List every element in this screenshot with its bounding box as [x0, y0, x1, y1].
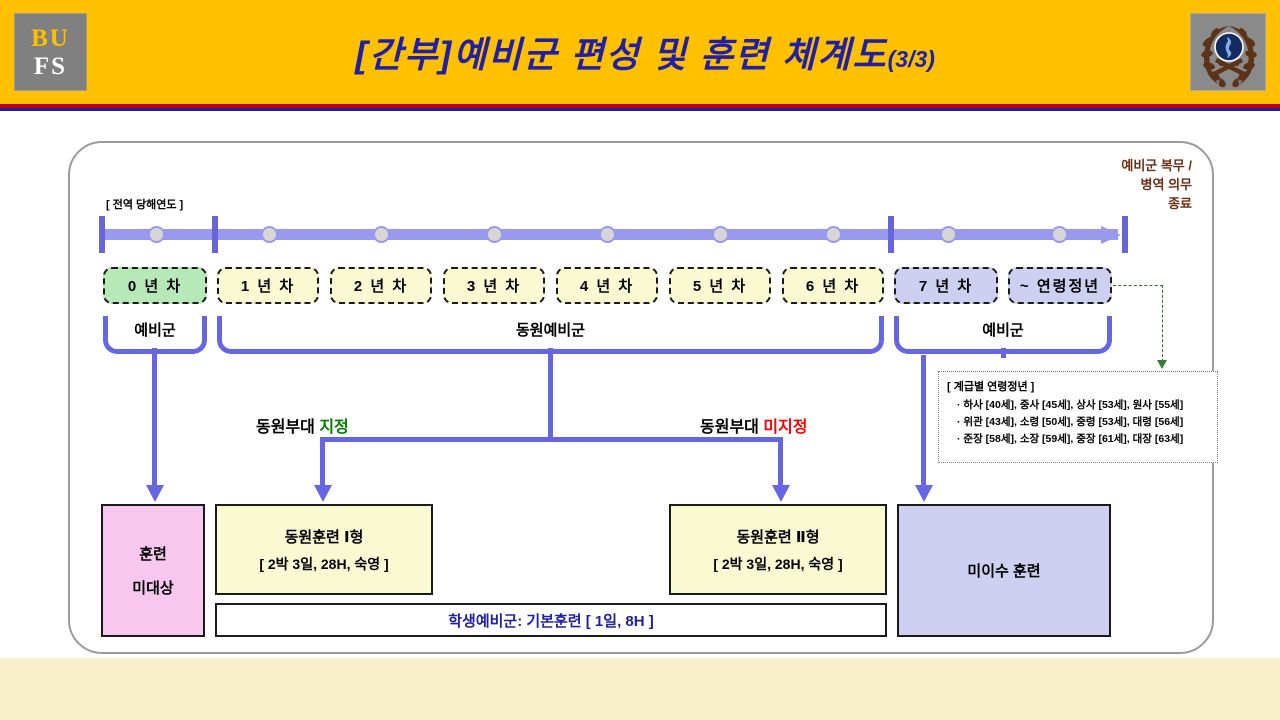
brace-nub-right [1001, 348, 1006, 358]
connector-mid-stem [548, 355, 553, 442]
legend-connector-vertical [1162, 285, 1163, 362]
timeline-arrowhead [1101, 226, 1121, 244]
page-title: [간부]예비군 편성 및 훈련 체계도(3/3) [120, 26, 1170, 84]
connector-mid-right-arrow [772, 485, 790, 502]
branch-label-assigned: 동원부대 지정 [256, 413, 349, 437]
year-box-5[interactable]: 5 년 차 [669, 267, 771, 304]
timeline-end-label-line2: 병역 의무 [1032, 175, 1192, 194]
legend-connector-arrow [1157, 360, 1167, 369]
brace-label-mobilization-reserve: 동원예비군 [217, 319, 884, 340]
result-type2-title: 동원훈련 Ⅱ형 [736, 526, 819, 547]
bufs-logo: BU FS [14, 13, 87, 91]
connector-mid-right-drop [778, 437, 783, 487]
branch-label-unassigned: 동원부대 미지정 [700, 413, 808, 437]
timeline-dot [825, 226, 842, 243]
timeline-start-label: [ 전역 당해연도 ] [106, 196, 183, 212]
connector-right-stem [921, 355, 926, 487]
slide-footer: "대한민족을 지키는 또하나의힘, 예비군" BU FS 부산외국어대학교 예비… [0, 658, 1280, 720]
result-box-mobilization-type2[interactable]: 동원훈련 Ⅱ형 [ 2박 3일, 28H, 숙영 ] [669, 504, 887, 595]
timeline-end-label-line3: 종료 [1032, 194, 1192, 213]
age-limit-legend-line-1: · 하사 [40세], 중사 [45세], 상사 [53세], 원사 [55세] [947, 397, 1211, 414]
timeline-tick-year7 [888, 216, 894, 253]
year-box-0[interactable]: 0 년 차 [103, 267, 207, 304]
age-limit-legend-line-3: · 준장 [58세], 소장 [59세], 중장 [61세], 대장 [63세] [947, 431, 1211, 448]
result-type2-sub: [ 2박 3일, 28H, 숙영 ] [713, 554, 842, 574]
year-box-1[interactable]: 1 년 차 [217, 267, 319, 304]
connector-left-stem [152, 355, 157, 487]
legend-connector-horizontal [1113, 285, 1163, 286]
timeline-dot [486, 226, 503, 243]
result-no-training-line2: 미대상 [132, 577, 173, 598]
connector-mid-left-drop [320, 437, 325, 487]
emblem-graphic [1191, 14, 1266, 91]
brace-label-reserve-year7plus: 예비군 [894, 319, 1112, 340]
page-title-suffix: (3/3) [888, 46, 935, 72]
page-title-main: [간부]예비군 편성 및 훈련 체계도 [355, 34, 888, 75]
timeline-dot [599, 226, 616, 243]
connector-mid-left-arrow [314, 485, 332, 502]
timeline-dot [148, 226, 165, 243]
result-no-training-line1: 훈련 [139, 543, 167, 564]
timeline-tick-end [1122, 216, 1128, 253]
year-box-4[interactable]: 4 년 차 [556, 267, 658, 304]
result-box-uncompleted-training[interactable]: 미이수 훈련 [897, 504, 1111, 637]
bufs-logo-line1: BU [31, 26, 70, 51]
timeline-dot [712, 226, 729, 243]
timeline-end-label: 예비군 복무 / 병역 의무 종료 [1032, 156, 1192, 213]
timeline-dot [940, 226, 957, 243]
timeline-tick-year1 [212, 216, 218, 253]
slide-root: BU FS [간부]예비군 편성 및 훈련 체계도(3/3) [0, 0, 1280, 720]
connector-mid-crossbar [320, 437, 783, 442]
result-box-no-training[interactable]: 훈련 미대상 [101, 504, 205, 637]
brace-label-reserve-year0: 예비군 [103, 319, 207, 340]
year-box-7[interactable]: 7 년 차 [894, 267, 998, 304]
year-box-2[interactable]: 2 년 차 [330, 267, 432, 304]
bufs-logo-line2: FS [34, 54, 67, 79]
age-limit-legend-line-2: · 위관 [43세], 소령 [50세], 중령 [53세], 대령 [56세] [947, 414, 1211, 431]
age-limit-legend-title: [ 계급별 연령정년 ] [947, 378, 1211, 394]
connector-left-arrow [146, 485, 164, 502]
result-uncompleted-title: 미이수 훈련 [967, 560, 1040, 581]
branch-label-assigned-prefix: 동원부대 [256, 419, 319, 436]
age-limit-legend: [ 계급별 연령정년 ] · 하사 [40세], 중사 [45세], 상사 [5… [938, 371, 1218, 463]
year-box-3[interactable]: 3 년 차 [443, 267, 545, 304]
header-divider-blue [0, 108, 1280, 111]
branch-label-assigned-emphasis: 지정 [319, 419, 348, 436]
slide-header: BU FS [간부]예비군 편성 및 훈련 체계도(3/3) [0, 0, 1280, 104]
timeline-dot [1051, 226, 1068, 243]
reserve-forces-emblem [1190, 13, 1266, 91]
branch-label-unassigned-prefix: 동원부대 [700, 419, 763, 436]
timeline-tick-start [99, 216, 105, 253]
branch-label-unassigned-emphasis: 미지정 [763, 419, 807, 436]
year-box-age-limit[interactable]: ~ 연령정년 [1008, 267, 1112, 304]
timeline-dot [373, 226, 390, 243]
year-box-6[interactable]: 6 년 차 [782, 267, 884, 304]
result-type1-sub: [ 2박 3일, 28H, 숙영 ] [259, 554, 388, 574]
timeline-dot [261, 226, 278, 243]
student-reserve-note[interactable]: 학생예비군: 기본훈련 [ 1일, 8H ] [215, 603, 887, 637]
result-type1-title: 동원훈련 Ⅰ형 [285, 526, 364, 547]
timeline-end-label-line1: 예비군 복무 / [1032, 156, 1192, 175]
connector-right-arrow [915, 485, 933, 502]
result-box-mobilization-type1[interactable]: 동원훈련 Ⅰ형 [ 2박 3일, 28H, 숙영 ] [215, 504, 433, 595]
